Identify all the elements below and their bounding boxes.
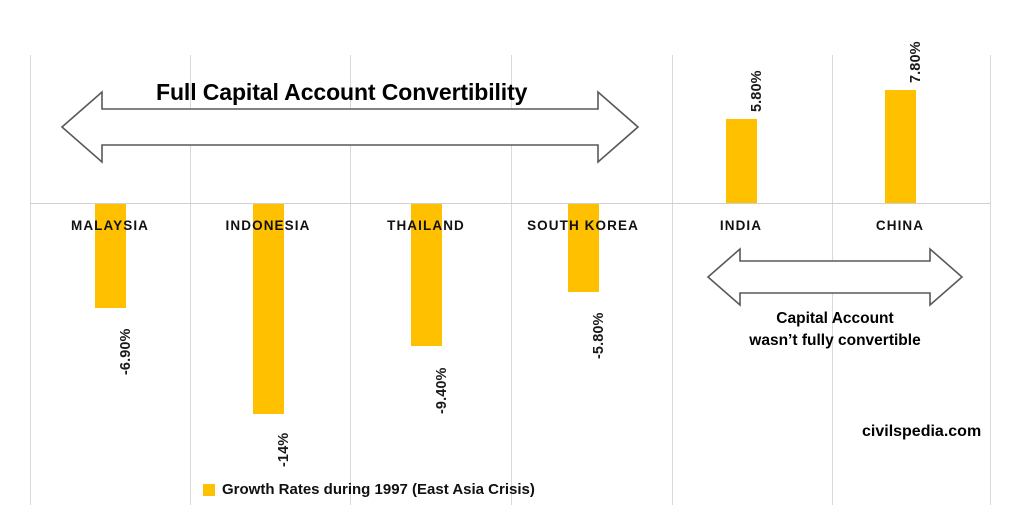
category-label-malaysia: MALAYSIA bbox=[71, 218, 149, 233]
arrow-shape bbox=[708, 249, 962, 305]
bar-value-label-indonesia: -14% bbox=[276, 433, 292, 467]
chart-legend: Growth Rates during 1997 (East Asia Cris… bbox=[203, 481, 535, 498]
category-label-thailand: THAILAND bbox=[387, 218, 465, 233]
legend-swatch-icon bbox=[203, 484, 215, 496]
category-label-india: INDIA bbox=[720, 218, 762, 233]
legend-label: Growth Rates during 1997 (East Asia Cris… bbox=[222, 481, 535, 498]
bar-value-label-china: 7.80% bbox=[908, 41, 924, 83]
gridline-vertical bbox=[30, 55, 31, 505]
gridline-vertical bbox=[672, 55, 673, 505]
chart-canvas: -6.90% -14% -9.40% -5.80% 5.80% 7.80% MA… bbox=[0, 0, 1024, 525]
gridline-vertical bbox=[990, 55, 991, 505]
annotation-headline: Full Capital Account Convertibility bbox=[156, 79, 527, 106]
double-arrow-not-fully-convertible bbox=[706, 246, 964, 310]
bar-indonesia[interactable] bbox=[253, 204, 284, 414]
category-label-indonesia: INDONESIA bbox=[226, 218, 311, 233]
annotation-caption-line-1: Capital Account bbox=[708, 308, 962, 330]
watermark-civilspedia: civilspedia.com bbox=[862, 423, 981, 441]
zero-axis-line bbox=[30, 203, 990, 204]
bar-value-label-south-korea: -5.80% bbox=[591, 312, 607, 359]
bar-value-label-india: 5.80% bbox=[749, 70, 765, 112]
annotation-caption-line-2: wasn’t fully convertible bbox=[708, 330, 962, 352]
annotation-caption: Capital Account wasn’t fully convertible bbox=[708, 308, 962, 353]
category-label-china: CHINA bbox=[876, 218, 924, 233]
category-label-south-korea: SOUTH KOREA bbox=[527, 218, 639, 233]
bar-china[interactable] bbox=[885, 90, 916, 203]
bar-india[interactable] bbox=[726, 119, 757, 203]
bar-value-label-malaysia: -6.90% bbox=[118, 328, 134, 375]
bar-value-label-thailand: -9.40% bbox=[434, 367, 450, 414]
